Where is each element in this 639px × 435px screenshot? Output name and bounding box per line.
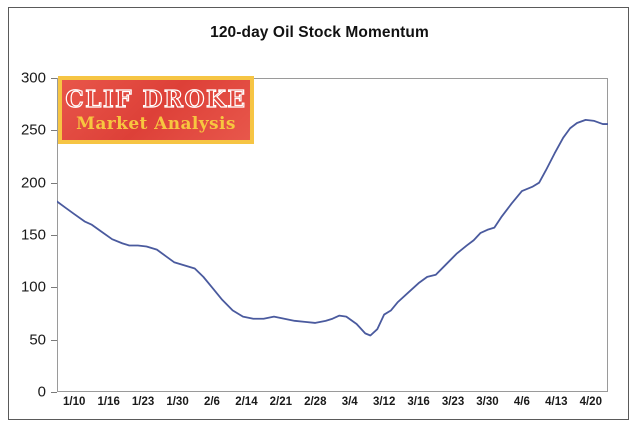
chart-screenshot: 120-day Oil Stock Momentum 0501001502002… <box>0 0 639 435</box>
page-title: 120-day Oil Stock Momentum <box>0 24 639 42</box>
logo-inner-panel: CLIF DROKE Market Analysis <box>62 80 250 140</box>
logo-brand-name: CLIF DROKE <box>65 88 246 111</box>
data-series-line <box>57 120 608 336</box>
logo-tagline: Market Analysis <box>76 116 236 133</box>
watermark-logo: CLIF DROKE Market Analysis <box>58 76 254 144</box>
